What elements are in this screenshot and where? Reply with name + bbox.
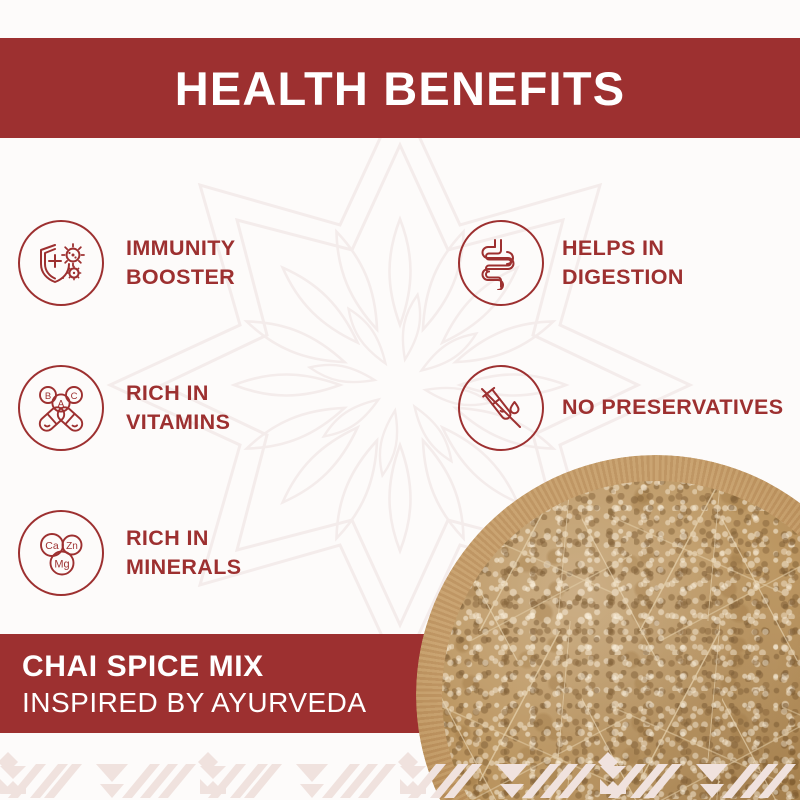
minerals-icon: Ca Zn Mg: [18, 510, 104, 596]
benefit-item-immunity-booster[interactable]: IMMUNITY BOOSTER: [0, 190, 450, 335]
header-banner: HEALTH BENEFITS: [0, 38, 800, 138]
mineral-ca-label: Ca: [45, 540, 59, 552]
tribal-pattern-strip: [0, 736, 800, 800]
benefit-label: RICH IN VITAMINS: [126, 379, 230, 436]
page-title: HEALTH BENEFITS: [175, 65, 626, 112]
mineral-mg-label: Mg: [54, 558, 69, 570]
benefit-item-rich-in-vitamins[interactable]: B C A: [0, 335, 450, 480]
intestine-icon: [458, 220, 544, 306]
benefits-row: IMMUNITY BOOSTER HELPS IN DIGESTION: [0, 190, 800, 335]
benefit-label: NO PRESERVATIVES: [562, 393, 783, 421]
shield-virus-icon: [18, 220, 104, 306]
vitamin-c-label: C: [71, 391, 78, 402]
vitamin-b-label: B: [45, 391, 51, 402]
benefit-item-rich-in-minerals[interactable]: Ca Zn Mg RICH IN MINERALS: [0, 480, 450, 625]
benefit-item-helps-in-digestion[interactable]: HELPS IN DIGESTION: [450, 190, 800, 335]
vitamin-pills-icon: B C A: [18, 365, 104, 451]
benefit-label: HELPS IN DIGESTION: [562, 234, 684, 291]
mineral-zn-label: Zn: [66, 541, 78, 552]
poster-canvas: HEALTH BENEFITS: [0, 0, 800, 800]
benefit-label: IMMUNITY BOOSTER: [126, 234, 236, 291]
benefit-label: RICH IN MINERALS: [126, 524, 241, 581]
no-test-tube-icon: [458, 365, 544, 451]
